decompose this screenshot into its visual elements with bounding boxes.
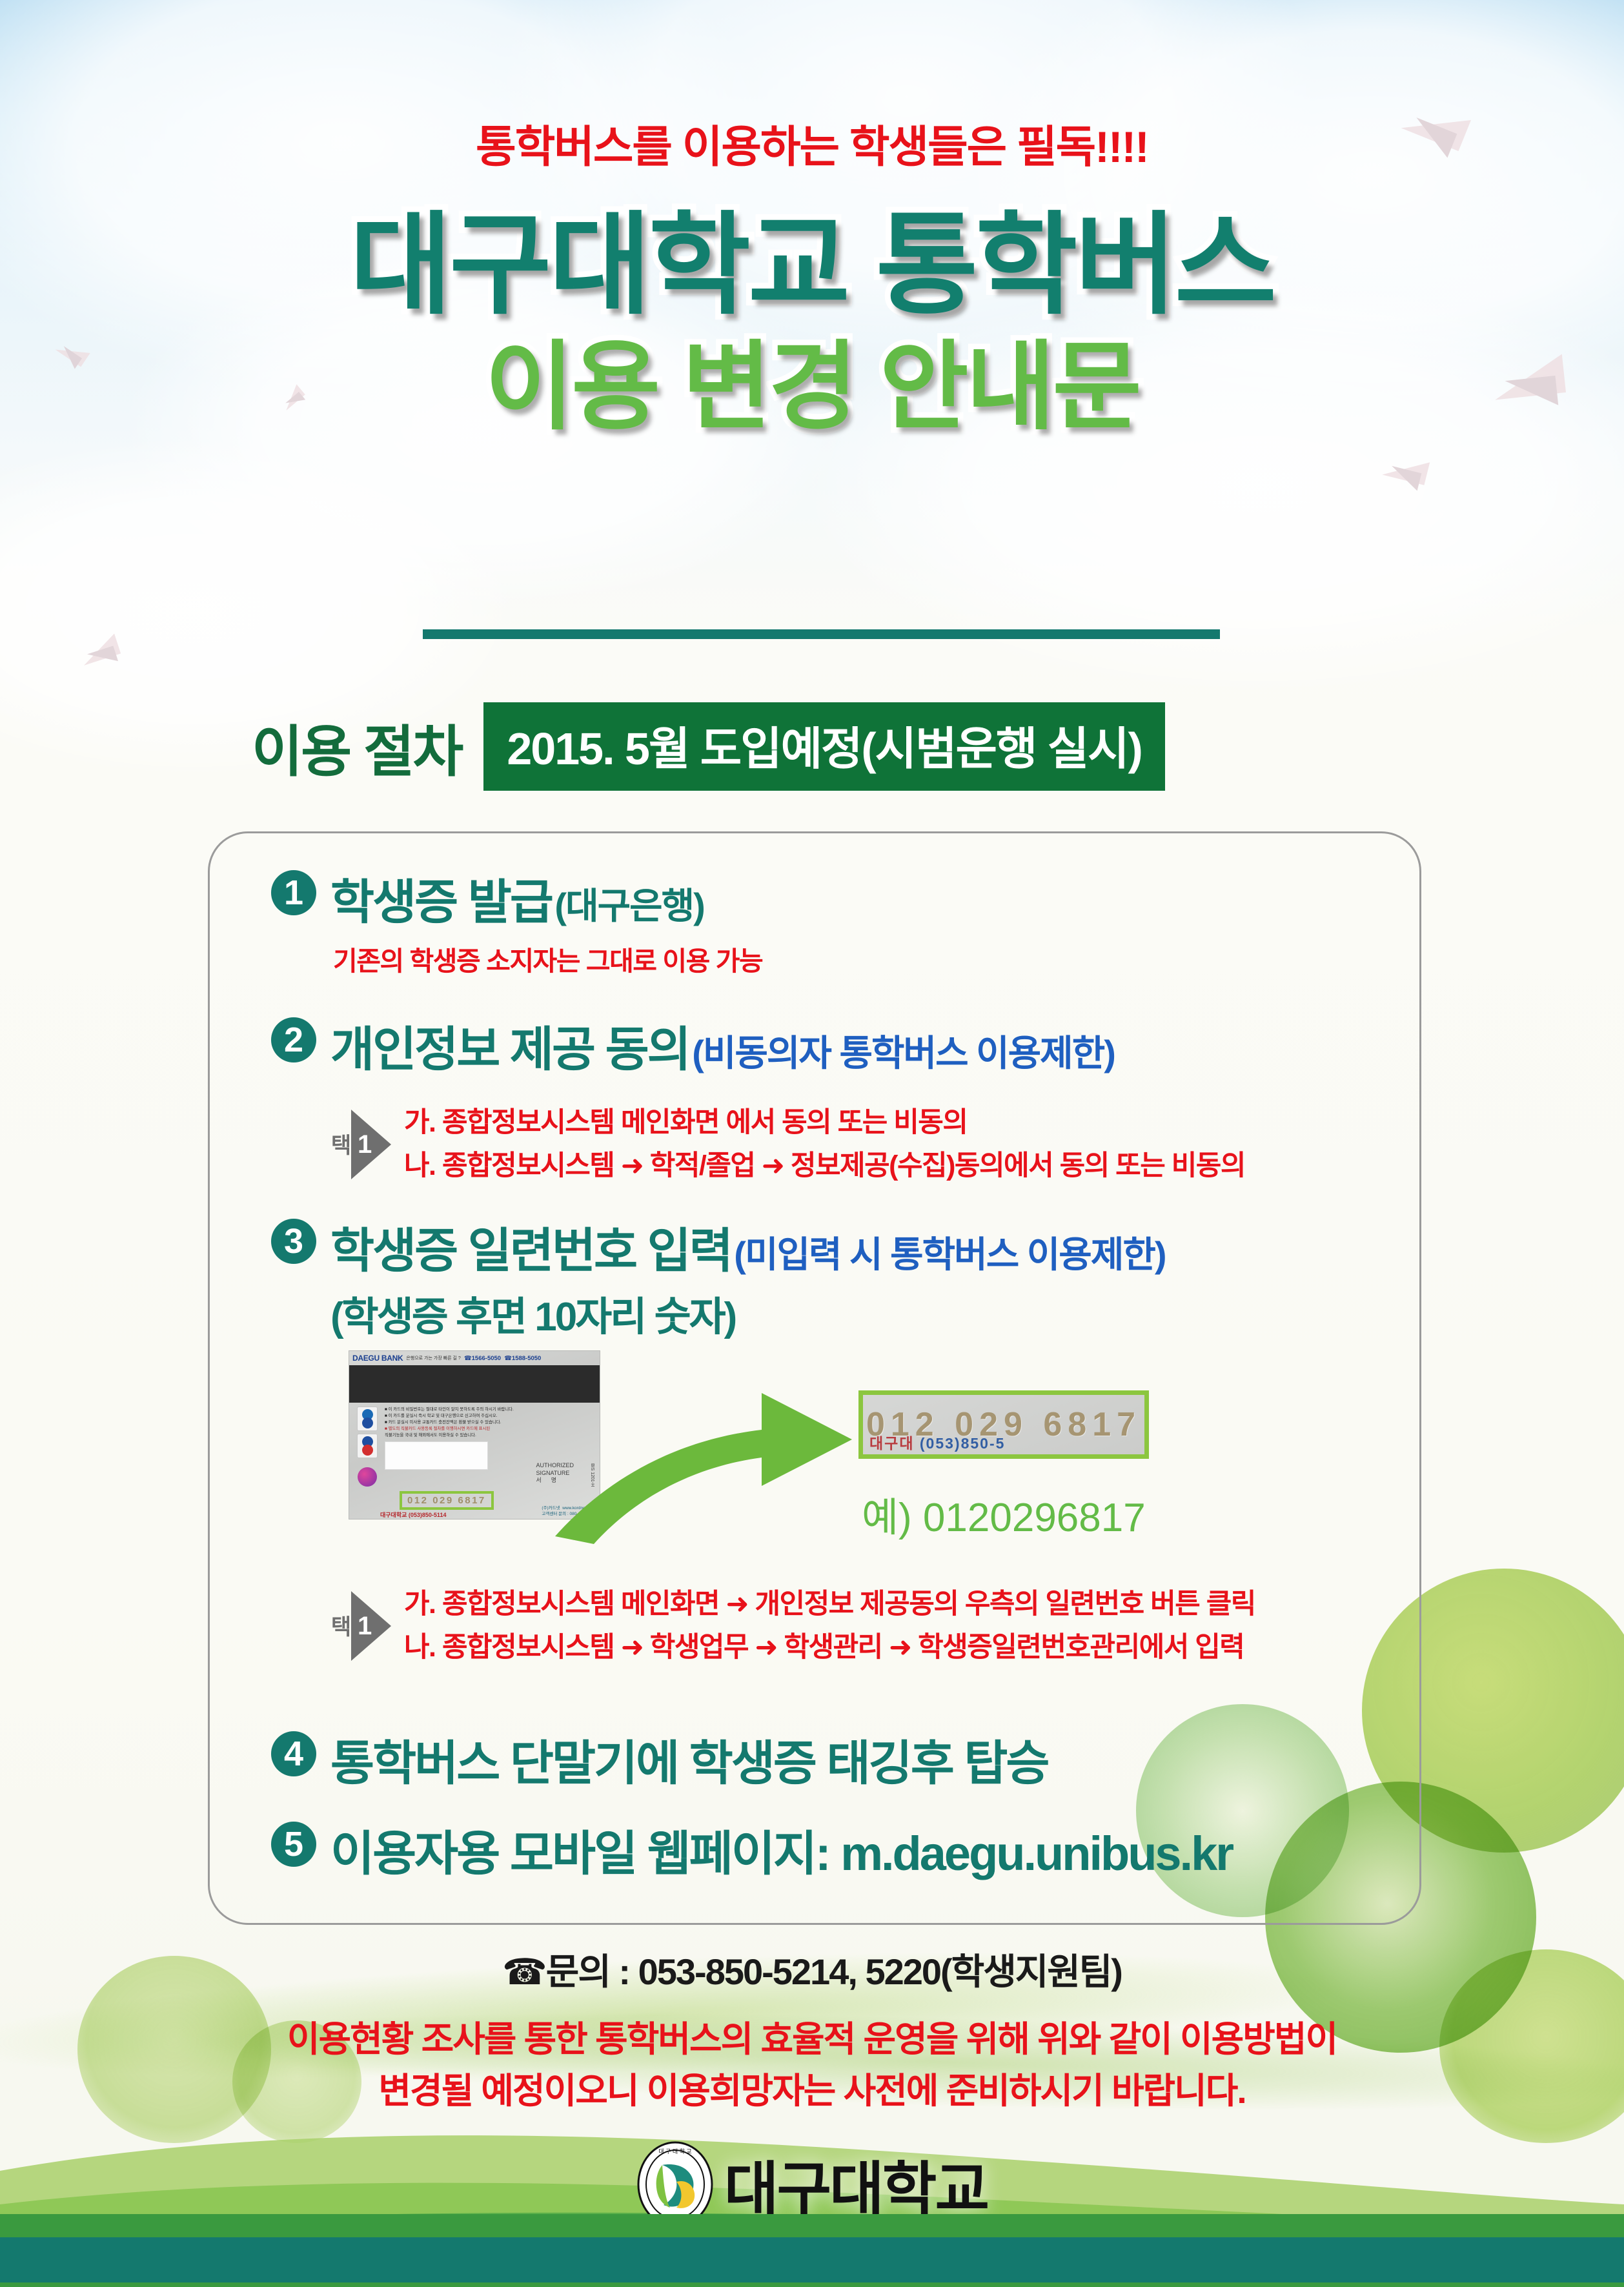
pick-label: 택: [328, 1133, 350, 1155]
footer-bar-green-accent: [0, 2282, 1624, 2287]
callout-arrow-icon: [529, 1343, 891, 1556]
step-4: 4 통학버스 단말기에 학생증 태깅후 탑승: [271, 1725, 1048, 1794]
maestro-logo-icon: [357, 1434, 378, 1458]
procedure-label: 이용 절차: [252, 706, 462, 787]
procedure-heading-row: 이용 절차 2015. 5월 도입예정(시범운행 실시): [252, 702, 1165, 791]
title-line-2: 이용 변경 안내문: [0, 336, 1624, 438]
step-2-title-suffix: (비동의자 통학버스 이용제한): [692, 1033, 1115, 1073]
step-2-option-a: 가. 종합정보시스템 메인화면 에서 동의 또는 비동의: [404, 1101, 1245, 1144]
step-number-badge: 4: [271, 1731, 316, 1776]
serial-example-text: 예) 0120296817: [862, 1485, 1146, 1543]
step-1: 1 학생증 발급 (대구은행) 기존의 학생증 소지자는 그대로 이용 가능: [271, 864, 762, 978]
step-2-heading: 개인정보 제공 동의 (비동의자 통학버스 이용제한): [330, 1011, 1115, 1080]
card-signature-strip: [385, 1441, 488, 1470]
step-3-title-suffix: (미입력 시 통학버스 이용제한): [734, 1234, 1165, 1275]
kicker-text: 통학버스를 이용하는 학생들은 필독!!!!: [0, 111, 1624, 175]
pick-number: 1: [358, 1613, 372, 1639]
procedure-banner: 2015. 5월 도입예정(시범운행 실시): [483, 702, 1164, 791]
step-1-title: 학생증 발급: [330, 875, 552, 929]
step-3-pick-one: 택 1 가. 종합정보시스템 메인화면 ➜ 개인정보 제공동의 우측의 일련번호…: [328, 1583, 1255, 1669]
step-3-heading: 학생증 일련번호 입력 (미입력 시 통학버스 이용제한) (학생증 후면 10…: [330, 1212, 1166, 1342]
step-1-title-suffix: (대구은행): [554, 886, 704, 926]
footer-bar-green: [0, 2214, 1624, 2237]
cirrus-logo-icon: [357, 1407, 378, 1431]
card-logo-column: [353, 1407, 381, 1520]
step-number-badge: 1: [271, 870, 316, 915]
title-line-1: 대구대학교 통학버스: [0, 207, 1624, 324]
step-number-badge: 2: [271, 1017, 316, 1062]
card-serial-number: 012 029 6817: [400, 1491, 494, 1510]
main-title: 대구대학교 통학버스 이용 변경 안내문: [0, 207, 1624, 438]
poster-root: 통학버스를 이용하는 학생들은 필독!!!! 대구대학교 통학버스 이용 변경 …: [0, 0, 1624, 2287]
step-4-heading: 통학버스 단말기에 학생증 태깅후 탑승: [330, 1725, 1048, 1794]
closing-message-line-1: 이용현황 조사를 통한 통학버스의 효율적 운영을 위해 위와 같이 이용방법이: [0, 2014, 1624, 2066]
serial-zoom-callout: 012 029 6817 대구대 (053)850-5: [858, 1390, 1149, 1459]
closing-message-line-2: 변경될 예정이오니 이용희망자는 사전에 준비하시기 바랍니다.: [0, 2066, 1624, 2117]
step-2-option-b: 나. 종합정보시스템 ➜ 학적/졸업 ➜ 정보제공(수집)동의에서 동의 또는 …: [404, 1144, 1245, 1188]
title-divider: [423, 629, 1220, 639]
footer-bars: [0, 2214, 1624, 2287]
card-school-contact: 대구대학교 (053)850-5114: [380, 1510, 446, 1519]
step-3-option-b: 나. 종합정보시스템 ➜ 학생업무 ➜ 학생관리 ➜ 학생증일련번호관리에서 입…: [404, 1626, 1255, 1669]
zoom-under-text: 대구대 (053)850-5: [869, 1431, 1005, 1453]
pick-number: 1: [358, 1132, 372, 1157]
step-2-title: 개인정보 제공 동의: [330, 1022, 689, 1076]
pick-triangle-icon: 1: [351, 1110, 391, 1179]
footer-bar-teal: [0, 2237, 1624, 2282]
card-bank-name: DAEGU BANK: [352, 1354, 403, 1363]
step-3: 3 학생증 일련번호 입력 (미입력 시 통학버스 이용제한) (학생증 후면 …: [271, 1212, 1166, 1342]
card-tagline: 은행으로 가는 가장 빠른 길 ?: [406, 1355, 460, 1361]
step-1-note: 기존의 학생증 소지자는 그대로 이용 가능: [333, 939, 762, 978]
step-2: 2 개인정보 제공 동의 (비동의자 통학버스 이용제한): [271, 1011, 1115, 1080]
step-5: 5 이용자용 모바일 웹페이지: m.daegu.unibus.kr: [271, 1815, 1232, 1884]
step-5-title: 이용자용 모바일 웹페이지: m.daegu.unibus.kr: [330, 1827, 1232, 1880]
step-number-badge: 3: [271, 1219, 316, 1264]
step-3-options: 가. 종합정보시스템 메인화면 ➜ 개인정보 제공동의 우측의 일련번호 버튼 …: [404, 1583, 1255, 1669]
transit-card-logo-icon: [358, 1467, 377, 1487]
step-2-options: 가. 종합정보시스템 메인화면 에서 동의 또는 비동의 나. 종합정보시스템 …: [404, 1101, 1245, 1187]
step-1-heading: 학생증 발급 (대구은행) 기존의 학생증 소지자는 그대로 이용 가능: [330, 864, 762, 978]
step-2-pick-one: 택 1 가. 종합정보시스템 메인화면 에서 동의 또는 비동의 나. 종합정보…: [328, 1101, 1245, 1187]
step-5-heading: 이용자용 모바일 웹페이지: m.daegu.unibus.kr: [330, 1815, 1232, 1884]
svg-text:대 구 대 학 교: 대 구 대 학 교: [658, 2148, 691, 2155]
step-3-option-a: 가. 종합정보시스템 메인화면 ➜ 개인정보 제공동의 우측의 일련번호 버튼 …: [404, 1583, 1255, 1626]
contact-line: ☎문의 : 053-850-5214, 5220(학생지원팀): [0, 1943, 1624, 1995]
step-3-title: 학생증 일련번호 입력: [330, 1224, 731, 1277]
step-4-title: 통학버스 단말기에 학생증 태깅후 탑승: [330, 1736, 1048, 1790]
step-3-title-line2: (학생증 후면 10자리 숫자): [330, 1284, 1166, 1342]
pick-label: 택: [328, 1615, 350, 1636]
step-number-badge: 5: [271, 1822, 316, 1867]
closing-message: 이용현황 조사를 통한 통학버스의 효율적 운영을 위해 위와 같이 이용방법이…: [0, 2014, 1624, 2117]
pick-triangle-icon: 1: [351, 1591, 391, 1661]
card-tel-1: ☎1566-5050: [464, 1355, 501, 1362]
